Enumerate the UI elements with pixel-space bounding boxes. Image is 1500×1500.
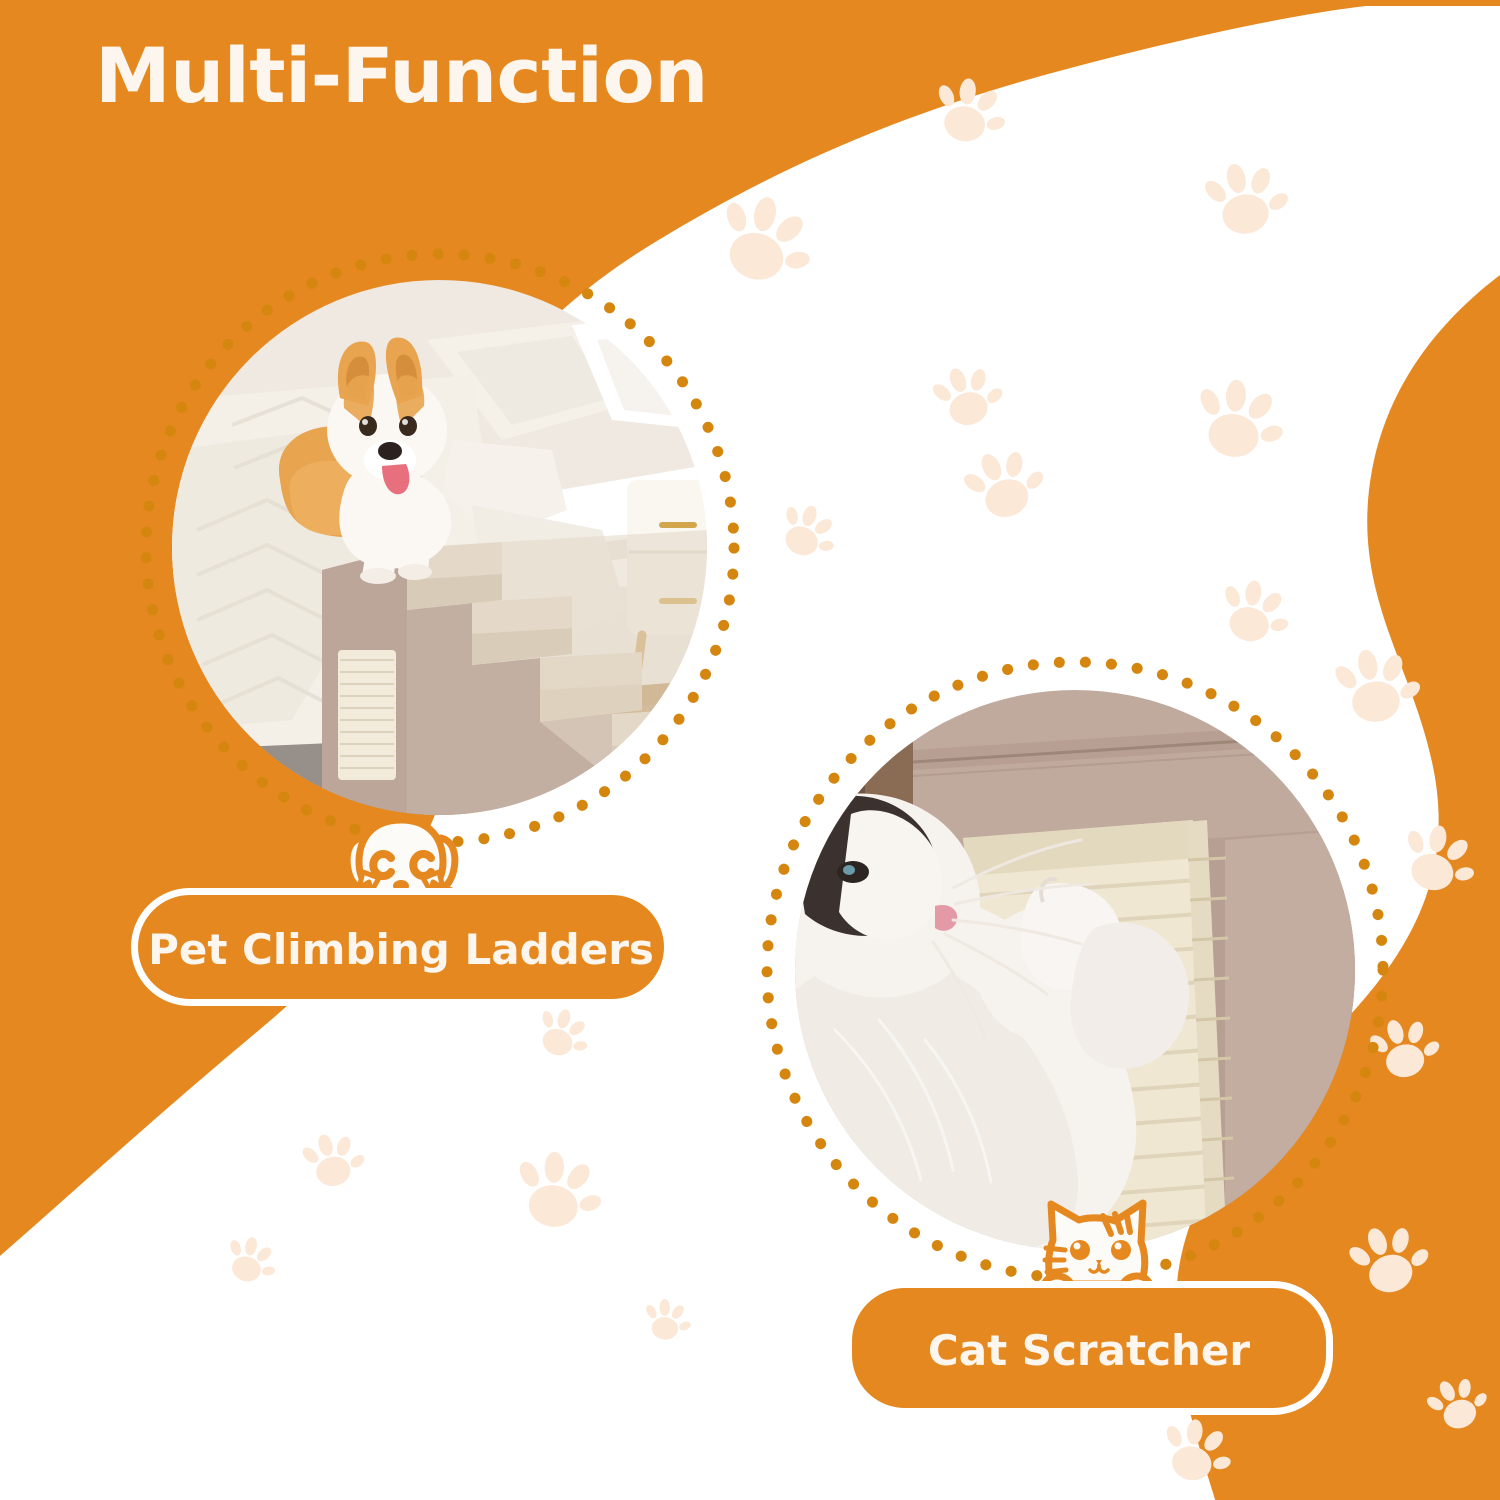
photo-cat-scratcher (795, 690, 1355, 1250)
dotted-ring-cat (0, 0, 1500, 1500)
badge-cat-scratcher[interactable]: Cat Scratcher (845, 1281, 1333, 1415)
badge-cat-scratcher-label: Cat Scratcher (928, 1326, 1250, 1375)
product-infographic: Multi-Function (0, 0, 1500, 1500)
